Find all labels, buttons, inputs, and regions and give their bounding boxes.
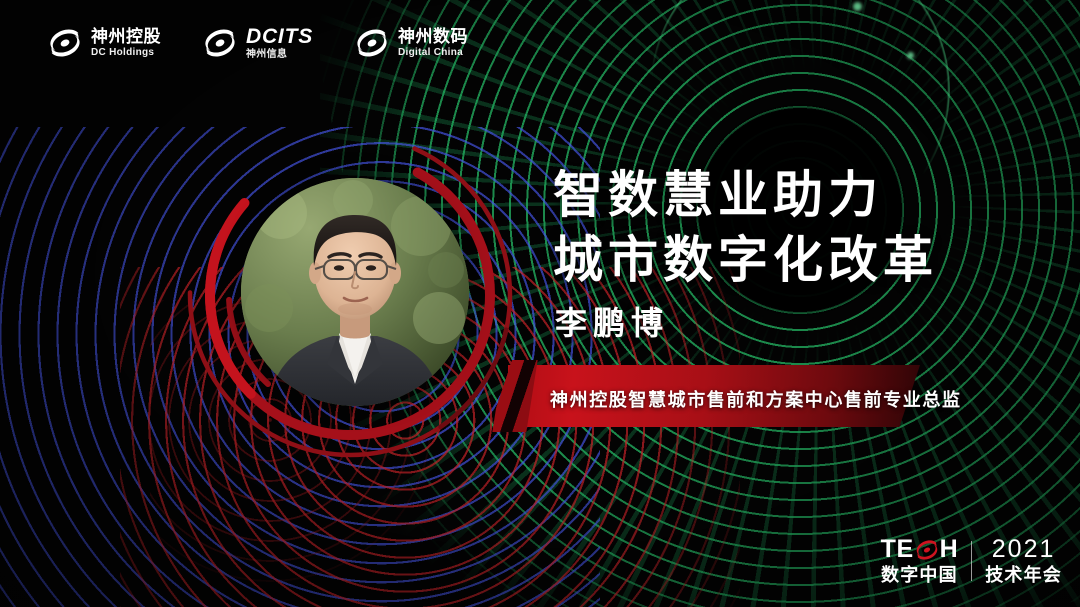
logo-name-en: 神州信息 bbox=[246, 50, 313, 61]
logo-text: 神州数码 Digital China bbox=[398, 28, 468, 58]
logo-name-cn: 神州控股 bbox=[91, 28, 161, 46]
conference-year: 2021 bbox=[992, 537, 1056, 562]
presentation-slide: 神州控股 DC Holdings DCITS 神州信息 bbox=[0, 0, 1080, 607]
speaker-photo bbox=[241, 178, 469, 406]
speaker-role: 神州控股智慧城市售前和方案中心售前专业总监 bbox=[550, 386, 962, 412]
swoosh-icon bbox=[203, 28, 237, 58]
vignette-overlay bbox=[0, 0, 1080, 607]
logo-digital-china: 神州数码 Digital China bbox=[355, 28, 468, 58]
logo-dcits: DCITS 神州信息 bbox=[203, 26, 313, 60]
logo-name-en: DC Holdings bbox=[91, 48, 161, 59]
conference-logo-divider bbox=[971, 541, 972, 581]
tech-letters-te: TE bbox=[881, 537, 914, 562]
conference-brand: TE H 数字中国 bbox=[881, 537, 972, 585]
background-art bbox=[0, 0, 1080, 607]
title-line-1: 智数慧业助力 bbox=[553, 163, 938, 228]
swoosh-icon bbox=[48, 28, 82, 58]
green-glow-dot bbox=[853, 2, 862, 11]
swoosh-icon bbox=[355, 28, 389, 58]
logo-name-en: Digital China bbox=[398, 48, 468, 59]
logo-name-cn: DCITS bbox=[246, 26, 313, 49]
green-glow-dot bbox=[907, 52, 914, 59]
title-line-2: 城市数字化改革 bbox=[553, 228, 938, 293]
speaker-name: 李鹏博 bbox=[555, 298, 669, 344]
logo-text: 神州控股 DC Holdings bbox=[91, 28, 161, 58]
conference-brand-cn: 数字中国 bbox=[881, 566, 958, 585]
logo-name-cn: 神州数码 bbox=[398, 28, 468, 46]
logo-dc-holdings: 神州控股 DC Holdings bbox=[48, 28, 161, 58]
logo-text: DCITS 神州信息 bbox=[246, 26, 313, 60]
speaker-portrait-block bbox=[175, 120, 525, 470]
conference-event-cn: 技术年会 bbox=[985, 566, 1062, 585]
tech-wordmark: TE H bbox=[881, 537, 959, 562]
conference-logo: TE H 数字中国 2021 技术年会 bbox=[881, 537, 1062, 585]
conference-event: 2021 技术年会 bbox=[972, 537, 1062, 585]
header-logo-bar: 神州控股 DC Holdings DCITS 神州信息 bbox=[48, 26, 468, 60]
tech-letter-h: H bbox=[940, 537, 959, 562]
swoosh-icon bbox=[915, 538, 939, 562]
page-title: 智数慧业助力 城市数字化改革 bbox=[553, 163, 938, 293]
